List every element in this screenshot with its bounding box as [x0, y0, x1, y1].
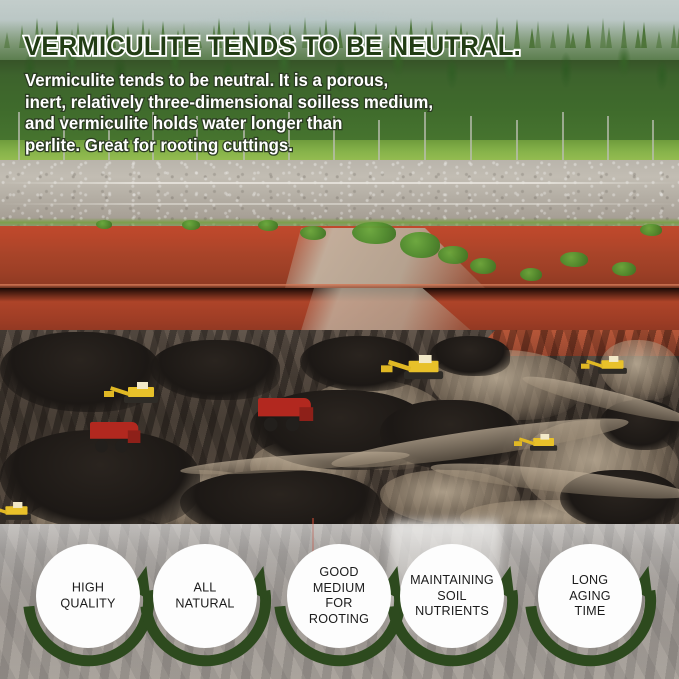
- utility-pole: [18, 112, 20, 160]
- flow-step-line: HIGH: [36, 581, 140, 597]
- flow-step-line: MEDIUM: [287, 581, 391, 597]
- flow-step-line: SOIL: [400, 588, 504, 604]
- flow-step-line: QUALITY: [36, 596, 140, 612]
- scrub-bush: [438, 246, 468, 264]
- description-line: and vermiculite holds water longer than: [25, 113, 433, 135]
- flow-step-line: ALL: [153, 581, 257, 597]
- flow-step-line: FOR: [287, 596, 391, 612]
- scrub-bush: [520, 268, 542, 281]
- scrub-bush: [96, 220, 112, 229]
- flow-step-line: MAINTAINING: [400, 573, 504, 589]
- flow-step-line: LONG: [538, 573, 642, 589]
- flow-step-long-aging-time[interactable]: LONGAGINGTIME: [538, 544, 642, 648]
- flow-step-high-quality[interactable]: HIGHQUALITY: [36, 544, 140, 648]
- flow-step-label: GOODMEDIUMFORROOTING: [287, 565, 391, 627]
- scrub-bush: [182, 220, 200, 230]
- flow-step-label: HIGHQUALITY: [36, 581, 140, 612]
- scrub-bush: [258, 220, 278, 231]
- product-infographic: VERMICULITE TENDS TO BE NEUTRAL. Vermicu…: [0, 0, 679, 679]
- description-line: Vermiculite tends to be neutral. It is a…: [25, 70, 433, 92]
- description-line: inert, relatively three-dimensional soil…: [25, 92, 433, 114]
- flow-step-label: ALLNATURAL: [153, 581, 257, 612]
- scrub-bush: [612, 262, 636, 276]
- description-line: perlite. Great for rooting cuttings.: [25, 135, 433, 157]
- benefits-flow-diagram: HIGHQUALITYALLNATURALGOODMEDIUMFORROOTIN…: [0, 524, 679, 679]
- scrub-bush: [560, 252, 588, 267]
- scrub-bush: [400, 232, 440, 258]
- flow-step-line: ROOTING: [287, 612, 391, 628]
- flow-step-label: LONGAGINGTIME: [538, 573, 642, 620]
- scrub-bush: [470, 258, 496, 274]
- flow-step-line: GOOD: [287, 565, 391, 581]
- page-title: VERMICULITE TENDS TO BE NEUTRAL.: [24, 31, 521, 62]
- flow-step-line: NATURAL: [153, 596, 257, 612]
- flow-step-all-natural[interactable]: ALLNATURAL: [153, 544, 257, 648]
- gravel-bench-line: [0, 203, 679, 205]
- flow-step-label: MAINTAININGSOILNUTRIENTS: [400, 573, 504, 620]
- flow-step-line: NUTRIENTS: [400, 604, 504, 620]
- gravel-bench-line: [0, 182, 679, 184]
- scrub-bush: [300, 226, 326, 240]
- flow-step-line: TIME: [538, 604, 642, 620]
- scrub-bush: [640, 224, 662, 236]
- scrub-bush: [352, 222, 396, 244]
- utility-pole: [562, 112, 564, 160]
- flow-step-line: AGING: [538, 588, 642, 604]
- flow-step-soil-nutrients[interactable]: MAINTAININGSOILNUTRIENTS: [400, 544, 504, 648]
- flow-step-good-medium[interactable]: GOODMEDIUMFORROOTING: [287, 544, 391, 648]
- description-paragraph: Vermiculite tends to be neutral. It is a…: [25, 70, 433, 156]
